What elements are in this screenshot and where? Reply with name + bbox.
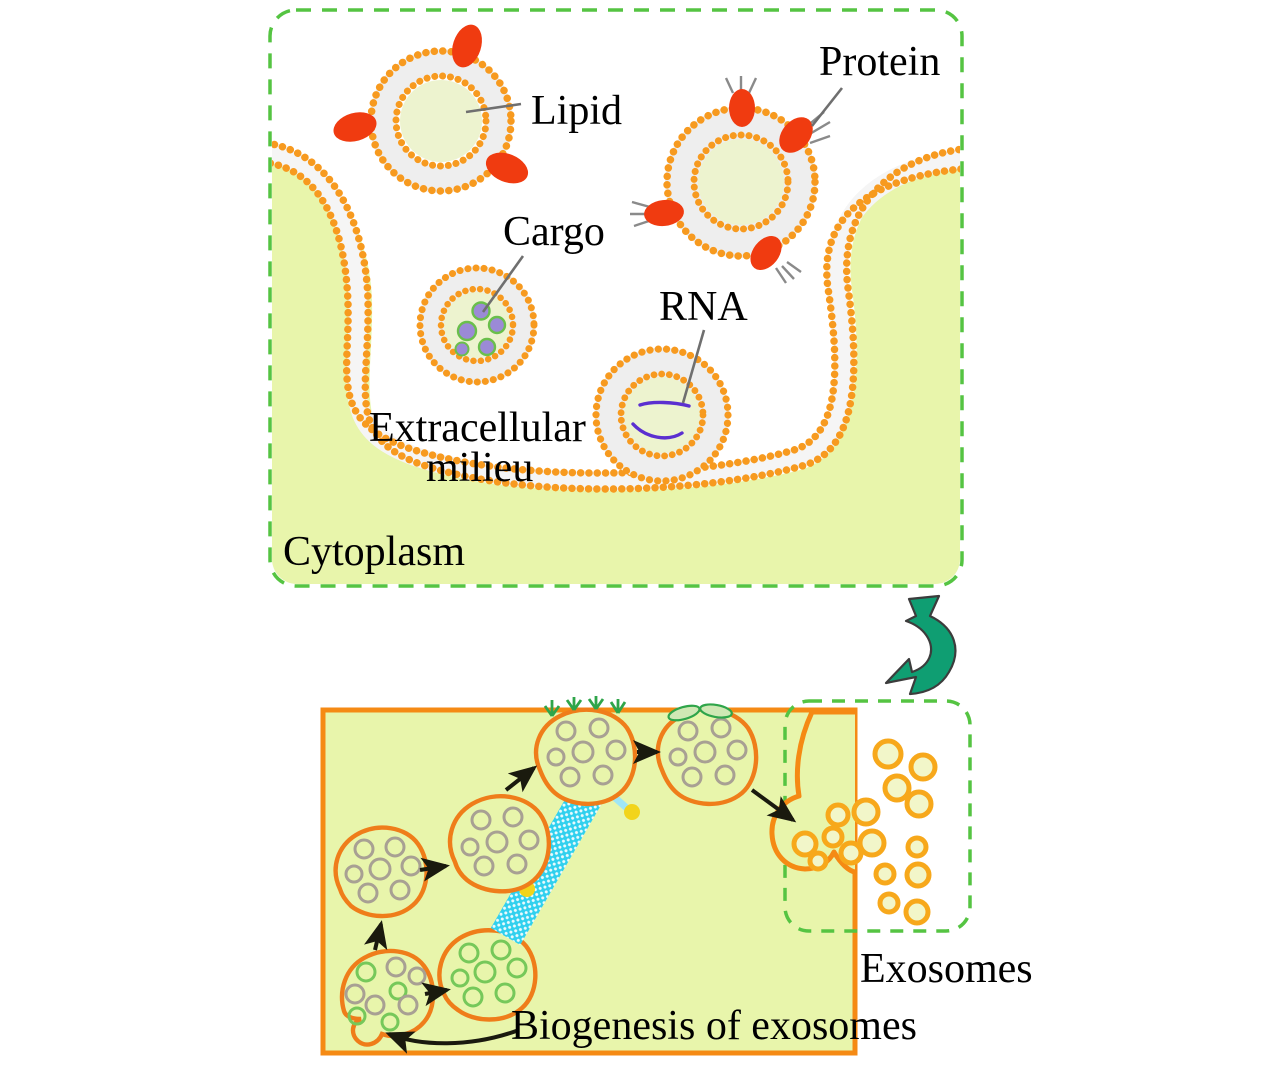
exosome (841, 843, 861, 863)
label-lipid: Lipid (531, 88, 622, 134)
exosome (854, 800, 878, 824)
exosome (810, 853, 826, 869)
exosome (907, 864, 929, 886)
lipid-vesicle-lumen (400, 80, 482, 162)
label-cargo: Cargo (503, 209, 605, 255)
rna-vesicle-lumen (624, 377, 700, 453)
label-protein: Protein (819, 39, 940, 85)
exosome (906, 901, 928, 923)
label-biogenesis: Biogenesis of exosomes (511, 1003, 917, 1049)
label-extracellular-line2: milieu (426, 445, 533, 491)
mvb-trafficking (450, 796, 549, 891)
exosome (885, 776, 909, 800)
exosome (876, 865, 894, 883)
label-exosomes: Exosomes (860, 946, 1033, 992)
exosome-diagram: Lipid Protein (0, 0, 1276, 1071)
exosome (875, 741, 901, 767)
exosome (907, 792, 931, 816)
exosome (860, 831, 884, 855)
exosome (824, 828, 842, 846)
exosome (880, 894, 898, 912)
protein-vesicle-lumen (698, 139, 784, 225)
transition-arrow-icon (886, 596, 955, 694)
figure-canvas: Lipid Protein (0, 0, 1276, 1071)
mvb-left (336, 828, 427, 916)
label-rna: RNA (659, 284, 748, 330)
exosome (911, 755, 935, 779)
label-cytoplasm: Cytoplasm (283, 529, 465, 575)
exosome (794, 833, 816, 855)
exosome (828, 805, 848, 825)
exosome (908, 838, 926, 856)
